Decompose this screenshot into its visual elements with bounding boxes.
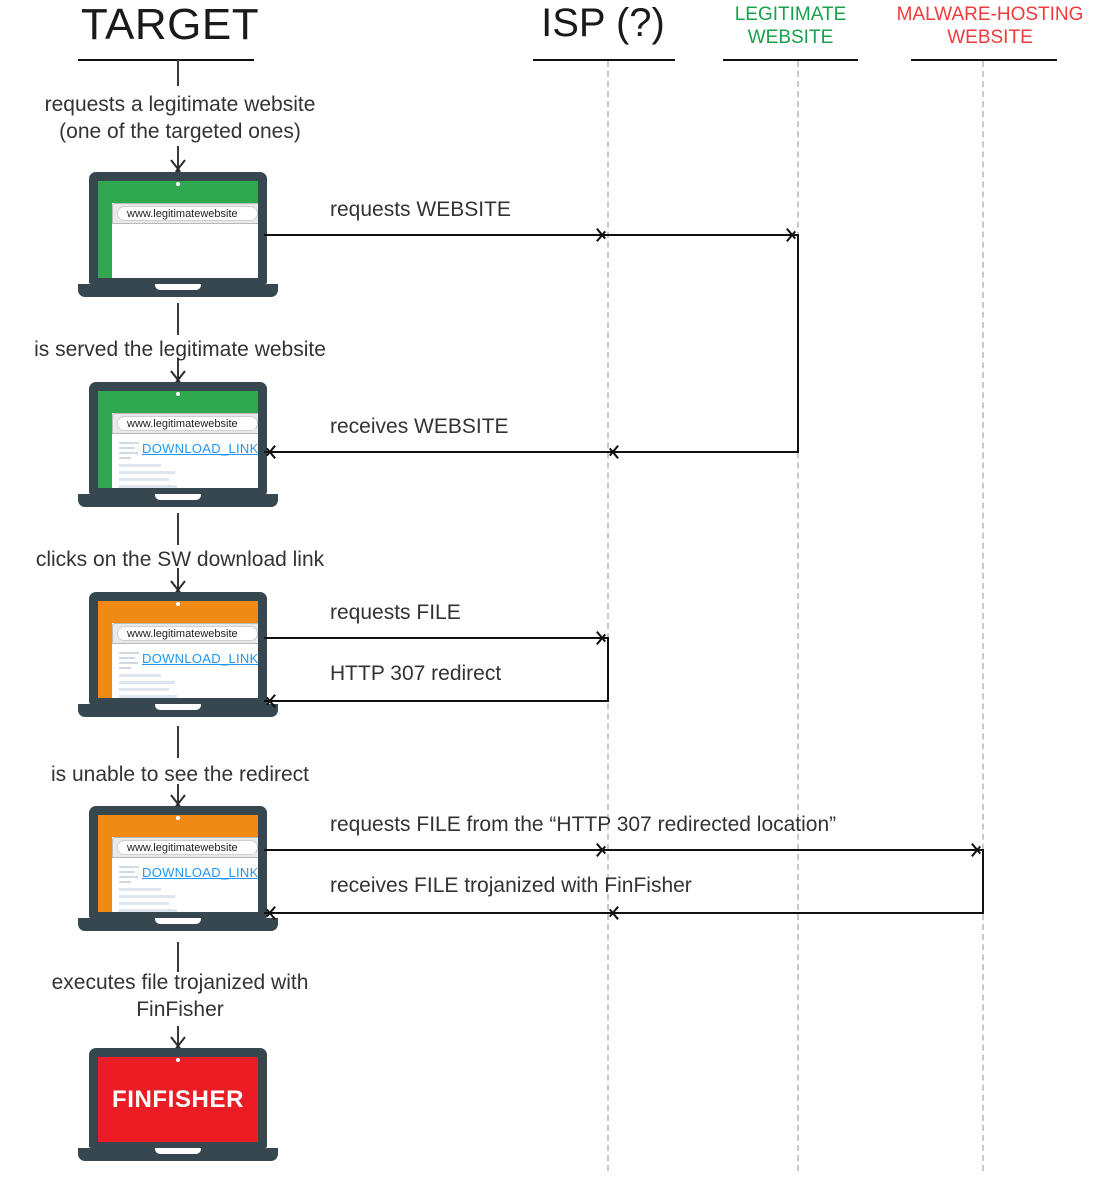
header-rule-isp <box>533 59 675 61</box>
laptop-4-url-bar[interactable]: www.legitimatewebsite <box>117 840 258 855</box>
message-line-3 <box>264 637 609 639</box>
laptop-2-lid: www.legitimatewebsite DOWNLOAD_LINK <box>89 382 267 494</box>
download-link[interactable]: DOWNLOAD_LINK <box>142 865 259 880</box>
arrowhead-left-isp-6 <box>607 903 623 923</box>
step-text-3-line-1: clicks on the SW download link <box>0 547 360 574</box>
arrowhead-right-isp-1 <box>592 225 608 245</box>
step-text-5-line-2: FinFisher <box>0 997 360 1024</box>
target-lifeline-seg-3 <box>177 303 179 335</box>
laptop-1: www.legitimatewebsite <box>78 172 278 297</box>
laptop-2-url-bar[interactable]: www.legitimatewebsite <box>117 416 258 431</box>
arrowhead-left-isp-2 <box>607 442 623 462</box>
message-line-2 <box>264 451 799 453</box>
laptop-1-browser-chrome: www.legitimatewebsite <box>112 203 258 224</box>
malware-return-connector <box>982 849 984 914</box>
message-line-5 <box>264 849 984 851</box>
message-label-4: HTTP 307 redirect <box>330 662 501 686</box>
header-rule-malware <box>911 59 1057 61</box>
diagram-canvas: TARGET ISP (?) LEGITIMATE WEBSITE MALWAR… <box>0 0 1093 1180</box>
text-lines-icon <box>119 442 139 462</box>
laptop-3-url-bar[interactable]: www.legitimatewebsite <box>117 626 258 641</box>
laptop-5-finfisher: FINFISHER <box>78 1048 278 1161</box>
column-title-legitimate-website: LEGITIMATE WEBSITE <box>713 4 868 50</box>
step-text-4: is unable to see the redirect <box>0 762 360 789</box>
step-text-4-line-1: is unable to see the redirect <box>0 762 360 789</box>
laptop-5-base <box>78 1148 278 1161</box>
arrowhead-left-target-2 <box>264 442 280 462</box>
step-text-5-line-1: executes file trojanized with <box>0 970 360 997</box>
laptop-2-page-content: DOWNLOAD_LINK <box>112 436 258 488</box>
laptop-3-page-content: DOWNLOAD_LINK <box>112 646 258 698</box>
step-text-1-line-1: requests a legitimate website <box>0 92 360 119</box>
laptop-4-lid: www.legitimatewebsite DOWNLOAD_LINK <box>89 806 267 918</box>
arrowhead-right-malware-5 <box>967 840 983 860</box>
webcam-icon <box>176 182 180 186</box>
laptop-2-base <box>78 494 278 507</box>
webcam-icon <box>176 392 180 396</box>
laptop-1-url-bar[interactable]: www.legitimatewebsite <box>117 206 258 221</box>
laptop-4-page-content: DOWNLOAD_LINK <box>112 860 258 912</box>
laptop-3-browser-window: www.legitimatewebsite DOWNLOAD_LINK <box>112 623 258 698</box>
step-text-2-line-1: is served the legitimate website <box>0 337 360 364</box>
step-text-5: executes file trojanized with FinFisher <box>0 970 360 1024</box>
laptop-4-screen: www.legitimatewebsite DOWNLOAD_LINK <box>98 815 258 912</box>
target-lifeline-seg-7 <box>177 726 179 758</box>
header-rule-target <box>78 59 254 61</box>
laptop-3-lid: www.legitimatewebsite DOWNLOAD_LINK <box>89 592 267 704</box>
body-text-lines-icon <box>119 464 179 494</box>
target-lifeline-seg-9 <box>177 942 179 972</box>
isp-return-connector <box>607 637 609 702</box>
message-label-3: requests FILE <box>330 601 461 625</box>
arrowhead-left-target-6 <box>264 903 280 923</box>
laptop-2-screen: www.legitimatewebsite DOWNLOAD_LINK <box>98 391 258 488</box>
laptop-3-base <box>78 704 278 717</box>
message-label-6: receives FILE trojanized with FinFisher <box>330 874 692 898</box>
text-lines-icon <box>119 652 139 672</box>
finfisher-banner: FINFISHER <box>112 1086 244 1114</box>
column-title-malware-hosting-website: MALWARE-HOSTING WEBSITE <box>890 4 1090 50</box>
webcam-icon <box>176 602 180 606</box>
target-lifeline-seg-5 <box>177 513 179 545</box>
laptop-3-browser-chrome: www.legitimatewebsite <box>112 623 258 644</box>
laptop-2-browser-window: www.legitimatewebsite DOWNLOAD_LINK <box>112 413 258 488</box>
laptop-3: www.legitimatewebsite DOWNLOAD_LINK <box>78 592 278 717</box>
message-line-1 <box>264 234 799 236</box>
legit-return-connector <box>797 234 799 452</box>
arrowhead-right-isp-5 <box>592 840 608 860</box>
step-text-1-line-2: (one of the targeted ones) <box>0 119 360 146</box>
laptop-1-browser-window: www.legitimatewebsite <box>112 203 258 278</box>
laptop-5-lid: FINFISHER <box>89 1048 267 1148</box>
laptop-4-base <box>78 918 278 931</box>
webcam-icon <box>176 816 180 820</box>
lifeline-malware <box>982 61 984 1171</box>
download-link[interactable]: DOWNLOAD_LINK <box>142 651 259 666</box>
arrowhead-right-isp-3 <box>592 628 608 648</box>
text-lines-icon <box>119 866 139 886</box>
laptop-1-lid: www.legitimatewebsite <box>89 172 267 284</box>
laptop-3-screen: www.legitimatewebsite DOWNLOAD_LINK <box>98 601 258 698</box>
arrowhead-right-legit-1 <box>782 225 798 245</box>
step-text-1: requests a legitimate website (one of th… <box>0 92 360 146</box>
arrowhead-left-target-4 <box>264 691 280 711</box>
message-label-5: requests FILE from the “HTTP 307 redirec… <box>330 813 836 837</box>
target-lifeline-seg-1 <box>177 60 179 86</box>
laptop-5-screen: FINFISHER <box>98 1057 258 1142</box>
body-text-lines-icon <box>119 674 179 704</box>
laptop-1-page-content <box>112 226 258 278</box>
step-text-2: is served the legitimate website <box>0 337 360 364</box>
laptop-1-base <box>78 284 278 297</box>
step-text-3: clicks on the SW download link <box>0 547 360 574</box>
message-line-6 <box>264 912 984 914</box>
message-label-2: receives WEBSITE <box>330 415 509 439</box>
laptop-2: www.legitimatewebsite DOWNLOAD_LINK <box>78 382 278 507</box>
laptop-4-browser-chrome: www.legitimatewebsite <box>112 837 258 858</box>
laptop-4-browser-window: www.legitimatewebsite DOWNLOAD_LINK <box>112 837 258 912</box>
laptop-4: www.legitimatewebsite DOWNLOAD_LINK <box>78 806 278 931</box>
column-title-target: TARGET <box>20 2 320 48</box>
header-rule-legit <box>723 59 858 61</box>
column-title-isp: ISP (?) <box>503 2 703 44</box>
message-label-1: requests WEBSITE <box>330 198 511 222</box>
message-line-4 <box>264 700 609 702</box>
body-text-lines-icon <box>119 888 179 918</box>
download-link[interactable]: DOWNLOAD_LINK <box>142 441 259 456</box>
laptop-1-screen: www.legitimatewebsite <box>98 181 258 278</box>
laptop-2-browser-chrome: www.legitimatewebsite <box>112 413 258 434</box>
webcam-icon <box>176 1058 180 1062</box>
